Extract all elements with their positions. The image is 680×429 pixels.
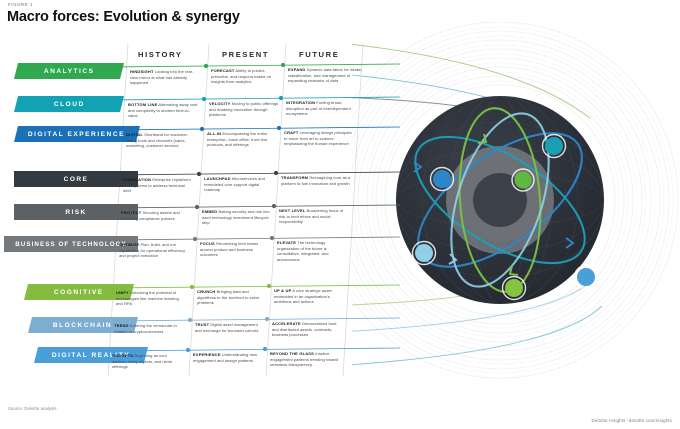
cell-term: INTEGRATION (286, 100, 315, 105)
cell-term: FORECAST (211, 68, 234, 73)
row-label-text: CLOUD (54, 101, 85, 108)
row-label-cloud[interactable]: CLOUD (14, 96, 124, 112)
cell-cognitive-history: UNIFY Unlocking the potential of technol… (116, 290, 186, 307)
cell-analytics-present: FORECAST Ability to predict, prescribe, … (211, 68, 281, 85)
column-header-present: PRESENT (222, 50, 269, 59)
column-header-future: FUTURE (299, 50, 339, 59)
source-note: Source: Deloitte analysis. (8, 406, 58, 411)
cell-term: TRUST (195, 322, 209, 327)
electron (575, 266, 598, 289)
cell-risk-future: NEXT LEVEL Broadening focus of risk to t… (279, 208, 349, 225)
row-label-text: RISK (65, 209, 86, 216)
cell-analytics-history: HINDSIGHT Looking into the rear-view mir… (130, 69, 200, 86)
macro-forces-matrix: HISTORY PRESENT FUTURE ANALYTICS CLOUD D… (0, 40, 400, 380)
cell-term: FOCUS (200, 241, 215, 246)
cell-term: VELOCITY (209, 101, 230, 106)
row-label-digital-experience[interactable]: DIGITAL EXPERIENCE (14, 126, 140, 142)
row-label-text: COGNITIVE (54, 289, 104, 296)
cell-blockchain-history: TREND Entering the vernacular in relatio… (114, 323, 184, 334)
cell-term: EXPAND (288, 67, 305, 72)
electron (413, 242, 436, 265)
row-label-text: ANALYTICS (44, 68, 95, 75)
cell-digital-reality-present: EXPERIENCE Understanding new engagement … (193, 352, 263, 363)
cell-digital-experience-present: ALL-IN Encompassing the entire enterpris… (207, 131, 277, 148)
cell-term: PROTECT (121, 210, 141, 215)
figure-label: FIGURE 1 (8, 2, 33, 7)
cell-term: OPTIMIZE (119, 242, 139, 247)
row-label-analytics[interactable]: ANALYTICS (14, 63, 124, 79)
cell-cognitive-present: CRUNCH Bringing data and algorithms to t… (197, 289, 267, 306)
electron (503, 277, 526, 300)
cell-term: FOUNDATION (123, 177, 151, 182)
cell-term: TREND (114, 323, 129, 328)
cell-term: ACCELERATE (272, 321, 301, 326)
atom-illustration (352, 22, 680, 394)
row-label-text: DIGITAL EXPERIENCE (28, 131, 125, 138)
cell-term: BEYOND THE GLASS (270, 351, 314, 356)
cell-analytics-future: EXPAND Dynamic data fabric for intake, c… (288, 67, 364, 84)
electron (543, 135, 566, 158)
cell-digital-reality-history: GADGETS Beginning as cool devices, shiny… (112, 353, 182, 370)
cell-term: UNIFY (116, 290, 129, 295)
cell-cloud-present: VELOCITY Moving to public offerings and … (209, 101, 279, 118)
cell-cloud-history: BOTTOM LINE Alternating away cost and co… (128, 102, 198, 119)
column-header-history: HISTORY (138, 50, 183, 59)
infographic-page: FIGURE 1 Macro forces: Evolution & syner… (0, 0, 680, 429)
cell-term: EMBED (202, 209, 217, 214)
cell-term: GADGETS (112, 353, 133, 358)
row-label-core[interactable]: CORE (14, 171, 138, 187)
cell-term: BOTTOM LINE (128, 102, 157, 107)
cell-term: HINDSIGHT (130, 69, 154, 74)
brand-url[interactable]: deloitte.com/insights (629, 418, 672, 423)
cell-digital-experience-future: CRAFT Leveraging design principles to mo… (284, 130, 354, 147)
row-label-text: BLOCKCHAIN (53, 322, 112, 329)
cell-term: CRUNCH (197, 289, 215, 294)
cell-term: DIGITAL (126, 132, 143, 137)
electron (431, 168, 454, 191)
cell-core-future: TRANSFORM Reimagining core as a platform… (281, 175, 351, 186)
row-label-risk[interactable]: RISK (14, 204, 138, 220)
cell-term: TRANSFORM (281, 175, 308, 180)
brand-footer: Deloitte Insights|deloitte.com/insights (592, 418, 672, 423)
row-label-text: CORE (64, 176, 89, 183)
cell-term: ELEVATE (277, 240, 296, 245)
cell-digital-experience-history: DIGITAL Shorthand for customer-facing to… (126, 132, 196, 149)
electron (512, 169, 534, 191)
cell-core-present: LAUNCHPAD Microservices and remodeled co… (204, 176, 274, 193)
cell-term: UP & UP (274, 288, 291, 293)
cell-risk-present: EMBED Baking security and risk into each… (202, 209, 272, 226)
cell-risk-history: PROTECT Securing assets and enforcing co… (121, 210, 191, 221)
cell-business-of-technology-future: ELEVATE The technology organization of t… (277, 240, 347, 263)
cell-cloud-future: INTEGRATION Fueling broad disruption as … (286, 100, 356, 117)
brand-name: Deloitte Insights (592, 418, 626, 423)
cell-business-of-technology-history: OPTIMIZE Plan, build, and run capabiliti… (119, 242, 189, 259)
cell-business-of-technology-present: FOCUS Reorienting tech teams around prod… (200, 241, 270, 258)
cell-term: CRAFT (284, 130, 298, 135)
cell-term: EXPERIENCE (193, 352, 221, 357)
page-title: Macro forces: Evolution & synergy (7, 9, 240, 25)
cell-term: LAUNCHPAD (204, 176, 231, 181)
cell-term: NEXT LEVEL (279, 208, 305, 213)
cell-blockchain-present: TRUST Digital asset management and excha… (195, 322, 265, 333)
cell-term: ALL-IN (207, 131, 221, 136)
row-label-business-of-technology[interactable]: BUSINESS OF TECHNOLOGY (4, 236, 138, 252)
cell-digital-reality-future: BEYOND THE GLASS Intuitive engagement pa… (270, 351, 340, 368)
cell-core-history: FOUNDATION Enterprise replatform core sy… (123, 177, 193, 194)
row-label-text: BUSINESS OF TECHNOLOGY (15, 241, 127, 248)
cell-blockchain-future: ACCELERATE Democratized trust and distri… (272, 321, 342, 338)
cell-cognitive-future: UP & UP A core strategic asset embedded … (274, 288, 344, 305)
